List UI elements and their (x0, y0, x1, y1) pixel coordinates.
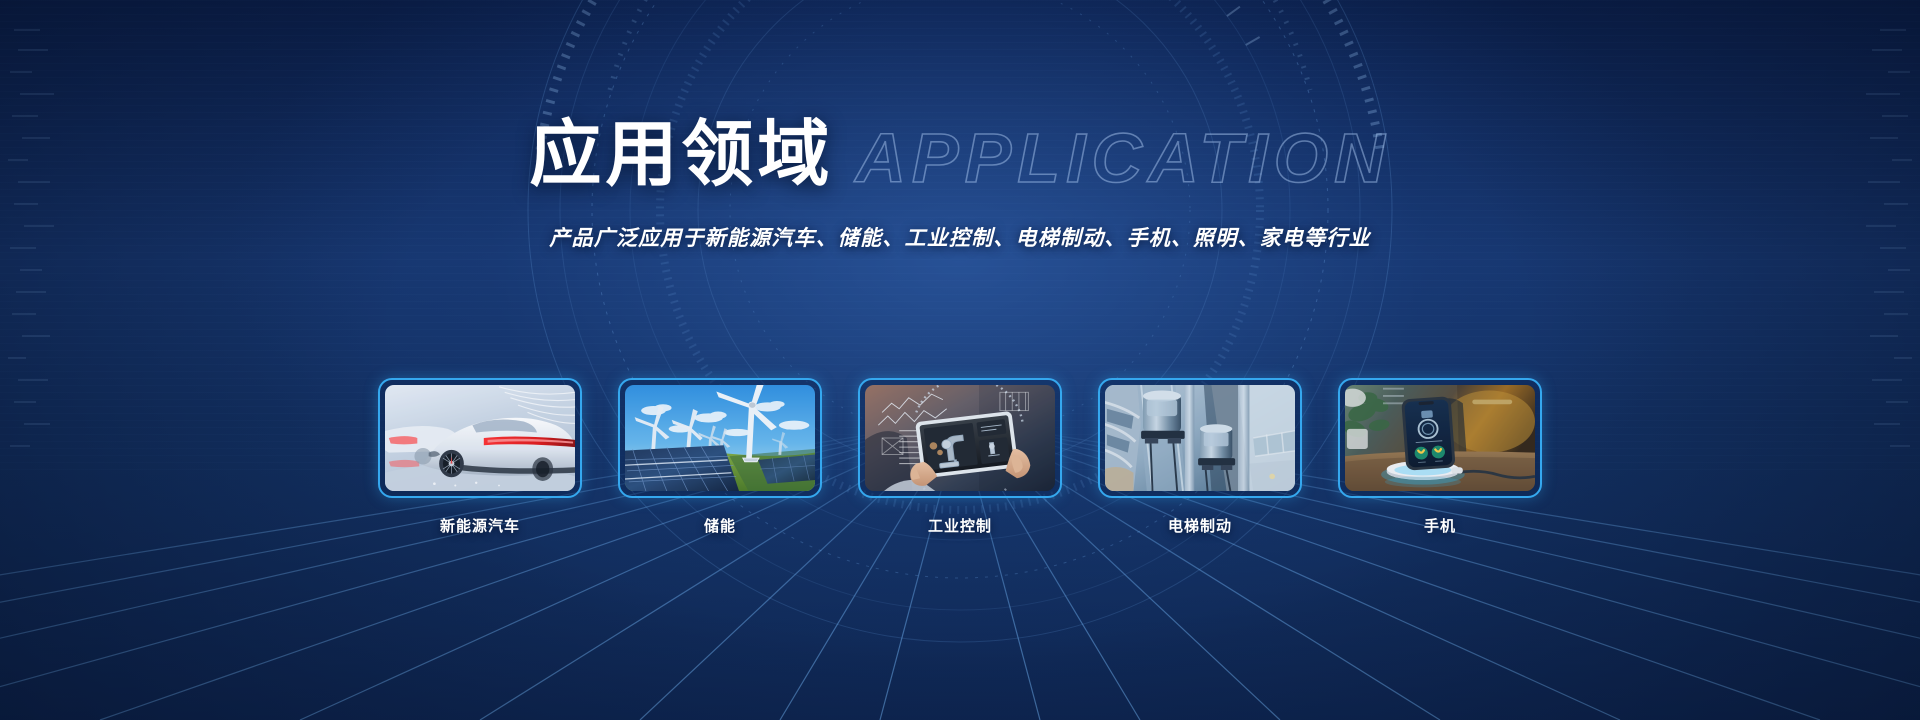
application-banner: 应用领域 APPLICATION 产品广泛应用于新能源汽车、储能、工业控制、电梯… (0, 0, 1920, 720)
elevator-braking-photo (1105, 385, 1295, 491)
application-card-elevator-braking[interactable]: 电梯制动 (1098, 378, 1302, 536)
banner-subtitle: 产品广泛应用于新能源汽车、储能、工业控制、电梯制动、手机、照明、家电等行业 (0, 222, 1920, 252)
new-energy-vehicle-photo (385, 385, 575, 491)
application-card-new-energy-vehicle[interactable]: 新能源汽车 (378, 378, 582, 536)
card-label: 新能源汽车 (378, 515, 582, 536)
card-label: 工业控制 (858, 515, 1062, 536)
card-label: 手机 (1338, 515, 1542, 536)
page-title-cn: 应用领域 (529, 118, 833, 190)
card-frame (1098, 378, 1302, 498)
card-frame (1338, 378, 1542, 498)
energy-storage-solar-wind-photo (625, 385, 815, 491)
industrial-control-tablet-photo (865, 385, 1055, 491)
application-card-industrial-control[interactable]: 工业控制 (858, 378, 1062, 536)
card-label: 电梯制动 (1098, 515, 1302, 536)
application-card-energy-storage[interactable]: 储能 (618, 378, 822, 536)
application-card-list: 新能源汽车 (0, 378, 1920, 536)
mobile-phone-wireless-charger-photo (1345, 385, 1535, 491)
card-label: 储能 (618, 515, 822, 536)
banner-heading: 应用领域 APPLICATION (0, 118, 1920, 190)
page-title-en: APPLICATION (855, 123, 1390, 193)
card-frame (378, 378, 582, 498)
card-frame (858, 378, 1062, 498)
card-frame (618, 378, 822, 498)
application-card-mobile-phone[interactable]: 手机 (1338, 378, 1542, 536)
